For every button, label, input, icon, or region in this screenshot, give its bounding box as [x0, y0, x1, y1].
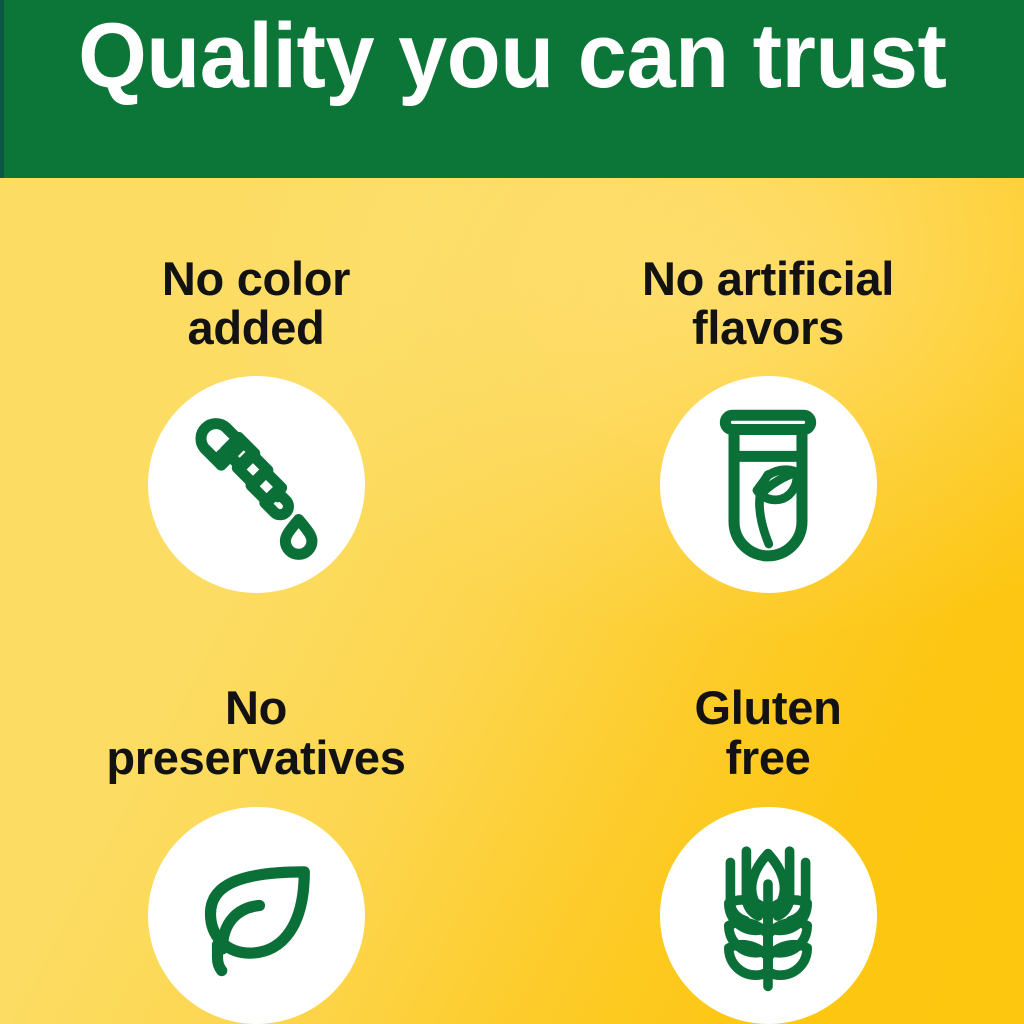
claim-no-artificial-flavors: No artificial flavors	[512, 178, 1024, 598]
claim-label: No preservatives	[106, 683, 405, 782]
leaf-icon	[186, 846, 326, 986]
page-title: Quality you can trust	[78, 10, 946, 102]
header-band: Quality you can trust	[0, 0, 1024, 178]
claim-gluten-free: Gluten free	[512, 598, 1024, 1024]
header-left-edge-accent	[0, 0, 4, 178]
icon-disc	[660, 807, 877, 1024]
icon-disc	[660, 376, 877, 593]
quality-infographic: Quality you can trust No color added	[0, 0, 1024, 1024]
claim-label: Gluten free	[694, 683, 841, 782]
claim-no-color-added: No color added	[0, 178, 512, 598]
dropper-icon	[177, 405, 335, 563]
claim-no-preservatives: No preservatives	[0, 598, 512, 1024]
claims-grid: No color added	[0, 178, 1024, 1024]
icon-disc	[148, 376, 365, 593]
claim-label: No color added	[162, 254, 350, 353]
icon-disc	[148, 807, 365, 1024]
claim-label: No artificial flavors	[642, 254, 894, 353]
test-tube-leaf-icon	[704, 405, 832, 563]
wheat-icon	[704, 836, 832, 996]
